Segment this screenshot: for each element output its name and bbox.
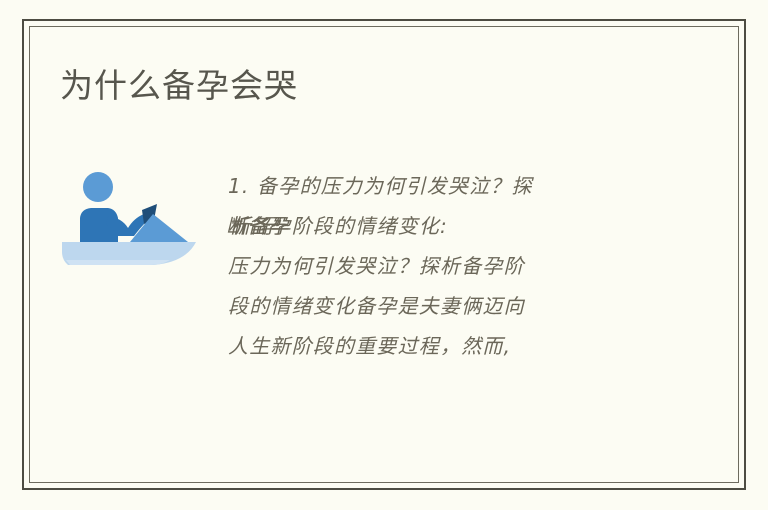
article-line-2-tail: 阶段的情绪变化: <box>292 214 448 238</box>
article-body: 1. 备孕的压力为何引发哭泣？探 析备孕 断备孕 析 孕 阶段的情绪变化: 压力… <box>228 166 658 366</box>
article-line-5: 人生新阶段的重要过程，然而, <box>228 326 658 366</box>
illustration-head <box>83 172 113 202</box>
article-line-1: 1. 备孕的压力为何引发哭泣？探 <box>228 166 658 206</box>
overstruck-glyph-stack: 析备孕 断备孕 析 孕 <box>228 206 292 246</box>
overstruck-overlay-b: 析 孕 <box>231 206 281 246</box>
person-in-boat-illustration <box>58 166 208 272</box>
article-line-4: 段的情绪变化备孕是夫妻俩迈向 <box>228 286 658 326</box>
illustration-hull-highlight <box>66 260 170 265</box>
page-title: 为什么备孕会哭 <box>60 66 298 106</box>
article-line-2: 析备孕 断备孕 析 孕 阶段的情绪变化: <box>228 206 658 246</box>
article-line-3: 压力为何引发哭泣？探析备孕阶 <box>228 246 658 286</box>
article-page: 为什么备孕会哭 1. 备孕的压力为何引发哭泣？探 析备孕 断备孕 析 孕 阶段的 <box>0 0 768 510</box>
